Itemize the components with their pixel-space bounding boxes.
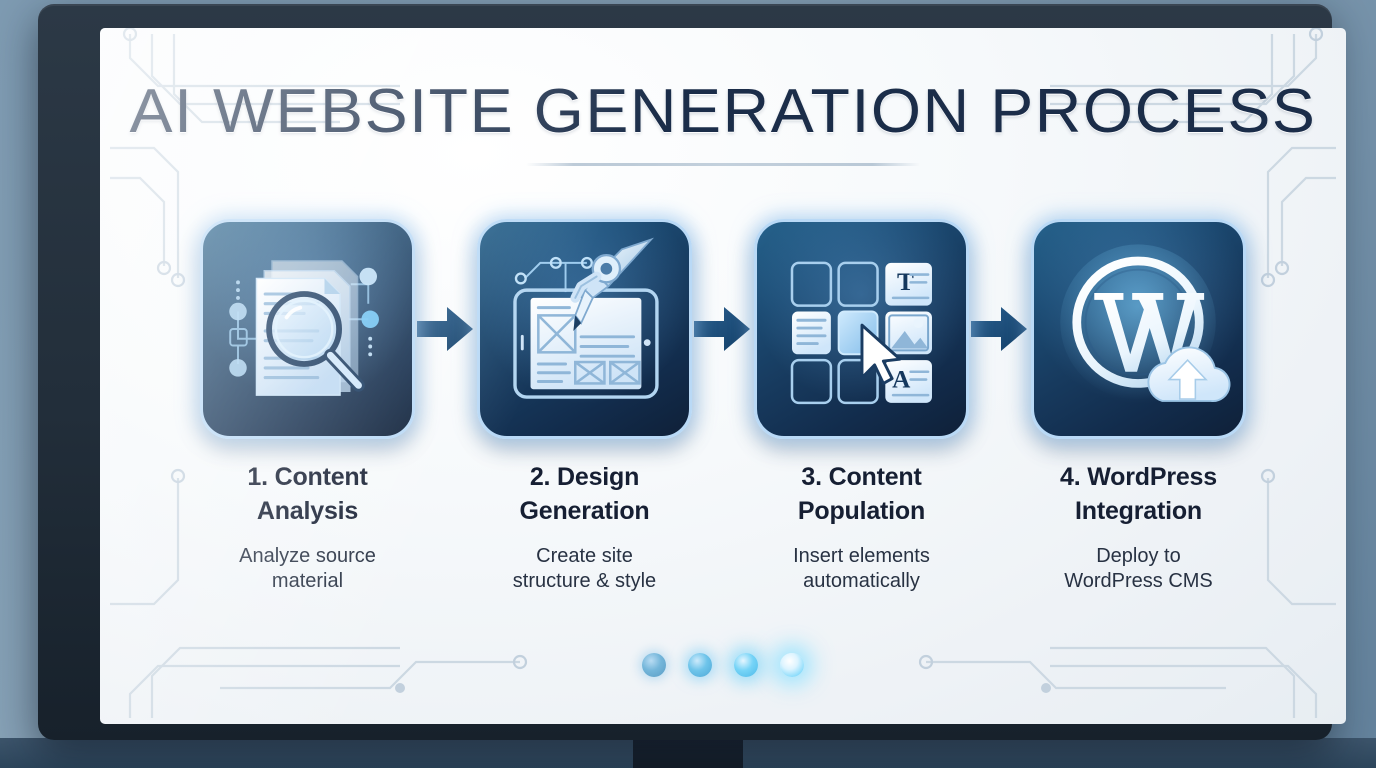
step-3-desc-line2: automatically (793, 569, 930, 594)
progress-dot-3[interactable] (734, 653, 758, 677)
step-2-title-line1: 2. Design (520, 461, 650, 495)
title-block: AI WEBSITE GENERATION PROCESS (100, 76, 1346, 166)
document-magnifier-icon (203, 222, 412, 436)
arrow-step1-to-step2 (416, 219, 476, 439)
arrow-step3-to-step4 (970, 219, 1030, 439)
progress-dot-2[interactable] (688, 653, 712, 677)
step-4-title-line1: 4. WordPress (1060, 461, 1217, 495)
step-4-title-line2: Integration (1060, 495, 1217, 529)
progress-dot-1[interactable] (642, 653, 666, 677)
step-3-desc-line1: Insert elements (793, 544, 930, 569)
step-3-title-line2: Population (798, 495, 925, 529)
arrow-right-icon (417, 303, 475, 355)
robotic-pen-wireframe-icon (480, 222, 689, 436)
step-3-title: 3. Content Population (798, 461, 925, 528)
step-4-wordpress-integration[interactable]: 4. WordPress Integration Deploy to WordP… (1031, 219, 1246, 594)
progress-dot-4[interactable] (780, 653, 804, 677)
page-title: AI WEBSITE GENERATION PROCESS (100, 76, 1346, 147)
step-1-title-line1: 1. Content (247, 461, 367, 495)
step-2-design-generation[interactable]: 2. Design Generation Create site structu… (477, 219, 692, 594)
step-1-desc-line1: Analyze source (239, 544, 376, 569)
step-1-title-line2: Analysis (247, 495, 367, 529)
step-3-title-line1: 3. Content (798, 461, 925, 495)
svg-text:A: A (892, 365, 911, 393)
arrow-step2-to-step3 (693, 219, 753, 439)
monitor-base-left (0, 738, 640, 768)
step-3-content-population[interactable]: T (754, 219, 969, 594)
step-4-description: Deploy to WordPress CMS (1064, 544, 1213, 594)
step-2-desc-line1: Create site (513, 544, 656, 569)
step-1-content-analysis[interactable]: 1. Content Analysis Analyze source mater… (200, 219, 415, 594)
step-1-description: Analyze source material (239, 544, 376, 594)
title-underline (526, 163, 920, 166)
step-2-description: Create site structure & style (513, 544, 656, 594)
step-3-icon-card[interactable]: T (754, 219, 969, 439)
monitor-bezel: AI WEBSITE GENERATION PROCESS (38, 4, 1332, 740)
step-4-desc-line1: Deploy to (1064, 544, 1213, 569)
step-2-desc-line2: structure & style (513, 569, 656, 594)
step-2-icon-card[interactable] (477, 219, 692, 439)
progress-dots (100, 653, 1346, 677)
step-3-description: Insert elements automatically (793, 544, 930, 594)
step-2-title: 2. Design Generation (520, 461, 650, 528)
step-4-title: 4. WordPress Integration (1060, 461, 1217, 528)
content-grid-cursor-icon: T (757, 222, 966, 436)
step-1-title: 1. Content Analysis (247, 461, 367, 528)
monitor-base-right (736, 738, 1376, 768)
step-1-icon-card[interactable] (200, 219, 415, 439)
step-1-desc-line2: material (239, 569, 376, 594)
arrow-right-icon (971, 303, 1029, 355)
wordpress-cloud-upload-icon (1034, 222, 1243, 436)
step-4-icon-card[interactable] (1031, 219, 1246, 439)
step-4-desc-line2: WordPress CMS (1064, 569, 1213, 594)
screen: AI WEBSITE GENERATION PROCESS (100, 28, 1346, 724)
arrow-right-icon (694, 303, 752, 355)
step-2-title-line2: Generation (520, 495, 650, 529)
process-steps-row: 1. Content Analysis Analyze source mater… (200, 219, 1246, 594)
